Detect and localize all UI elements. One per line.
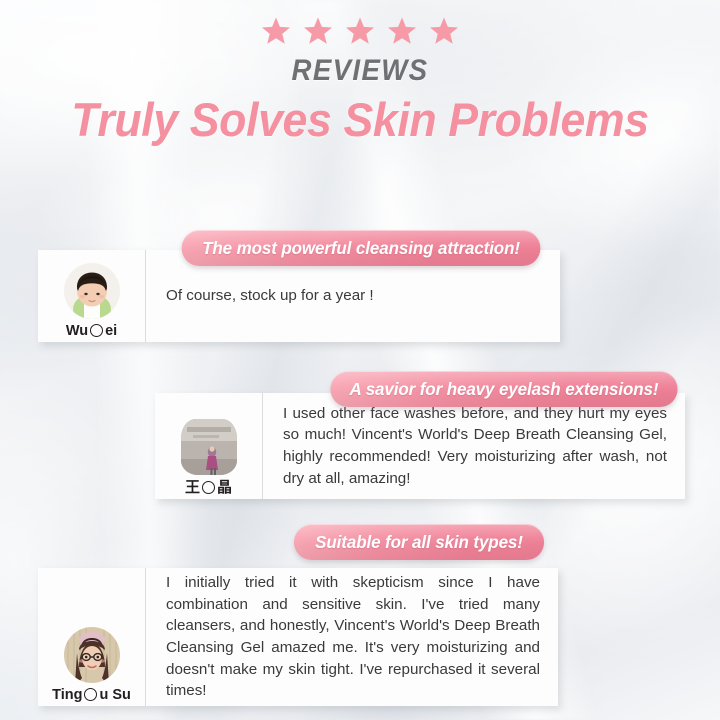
review-card-inner: Ting u Su I initially tried it with skep… [38, 568, 558, 706]
star-icon [345, 16, 375, 46]
redaction-circle-icon [90, 324, 103, 337]
redaction-circle-icon [202, 481, 215, 494]
author-name-suffix: ei [105, 324, 117, 339]
author-name-prefix: Wu [66, 324, 88, 339]
review-text: I initially tried it with skepticism sin… [166, 572, 540, 701]
author-name-suffix: u Su [99, 688, 130, 703]
page-title: Truly Solves Skin Problems [18, 92, 702, 147]
review-badge: Suitable for all skin types! [294, 524, 544, 560]
author-name: Wu ei [66, 324, 117, 339]
author-name: Ting u Su [52, 688, 131, 703]
page-header: REVIEWS Truly Solves Skin Problems [0, 0, 720, 147]
review-badge: The most powerful cleansing attraction! [182, 230, 541, 266]
review-author: Ting u Su [38, 568, 146, 706]
star-rating [0, 14, 720, 48]
redaction-circle-icon [84, 688, 97, 701]
author-name-prefix: 王 [185, 480, 200, 495]
review-body: I used other face washes before, and the… [263, 393, 685, 499]
avatar-woman-purple-dress [181, 419, 237, 475]
section-label: REVIEWS [29, 54, 691, 88]
avatar-woman-glasses [64, 627, 120, 683]
review-body: I initially tried it with skepticism sin… [146, 568, 558, 706]
reviews-page: REVIEWS Truly Solves Skin Problems [0, 0, 720, 720]
star-icon [429, 16, 459, 46]
author-name-suffix: 晶 [217, 480, 232, 495]
review-text: I used other face washes before, and the… [283, 403, 667, 489]
author-name: 王 晶 [185, 480, 232, 495]
star-icon [303, 16, 333, 46]
avatar-baby [64, 263, 120, 319]
review-card-inner: 王 晶 I used other face washes before, and… [155, 393, 685, 499]
star-icon [261, 16, 291, 46]
review-card[interactable]: 王 晶 I used other face washes before, and… [155, 393, 685, 499]
review-author: 王 晶 [155, 393, 263, 499]
review-text: Of course, stock up for a year ! [166, 285, 542, 307]
author-name-prefix: Ting [52, 688, 82, 703]
review-badge: A savior for heavy eyelash extensions! [330, 371, 677, 407]
review-card[interactable]: Ting u Su I initially tried it with skep… [38, 568, 558, 706]
review-author: Wu ei [38, 250, 146, 342]
star-icon [387, 16, 417, 46]
